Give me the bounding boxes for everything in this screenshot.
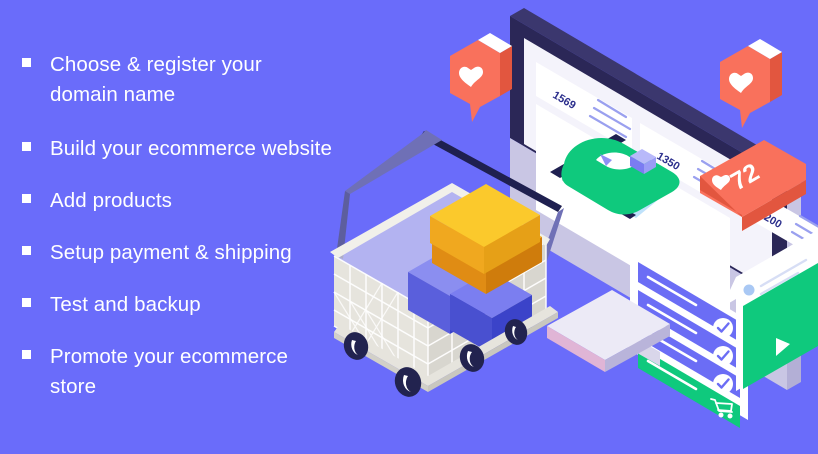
avatar xyxy=(744,285,755,296)
bullet-square-icon xyxy=(22,58,31,67)
bullet-square-icon xyxy=(22,298,31,307)
list-item: Test and backup xyxy=(22,290,201,320)
list-item-label: Choose & register your domain name xyxy=(50,50,262,110)
heart-bubble-left xyxy=(450,33,512,122)
list-item: Setup payment & shipping xyxy=(22,238,292,268)
check-circle-icon xyxy=(713,346,733,366)
list-item-label: Add products xyxy=(50,186,172,216)
bullet-square-icon xyxy=(22,142,31,151)
ecommerce-illustration: 1569 1350 xyxy=(300,0,818,454)
list-item-label: Setup payment & shipping xyxy=(50,238,292,268)
list-item-label: Promote your ecommerce store xyxy=(50,342,288,402)
illustration-banner: Choose & register your domain name Build… xyxy=(0,0,818,454)
check-circle-icon xyxy=(713,374,733,394)
list-item: Promote your ecommerce store xyxy=(22,342,288,402)
list-item: Add products xyxy=(22,186,172,216)
heart-bubble-right xyxy=(720,39,782,128)
bullet-square-icon xyxy=(22,194,31,203)
list-item: Build your ecommerce website xyxy=(22,134,332,164)
check-circle-icon xyxy=(713,318,733,338)
list-item-label: Build your ecommerce website xyxy=(50,134,332,164)
list-item: Choose & register your domain name xyxy=(22,50,262,110)
bullet-square-icon xyxy=(22,246,31,255)
list-item-label: Test and backup xyxy=(50,290,201,320)
bullet-square-icon xyxy=(22,350,31,359)
